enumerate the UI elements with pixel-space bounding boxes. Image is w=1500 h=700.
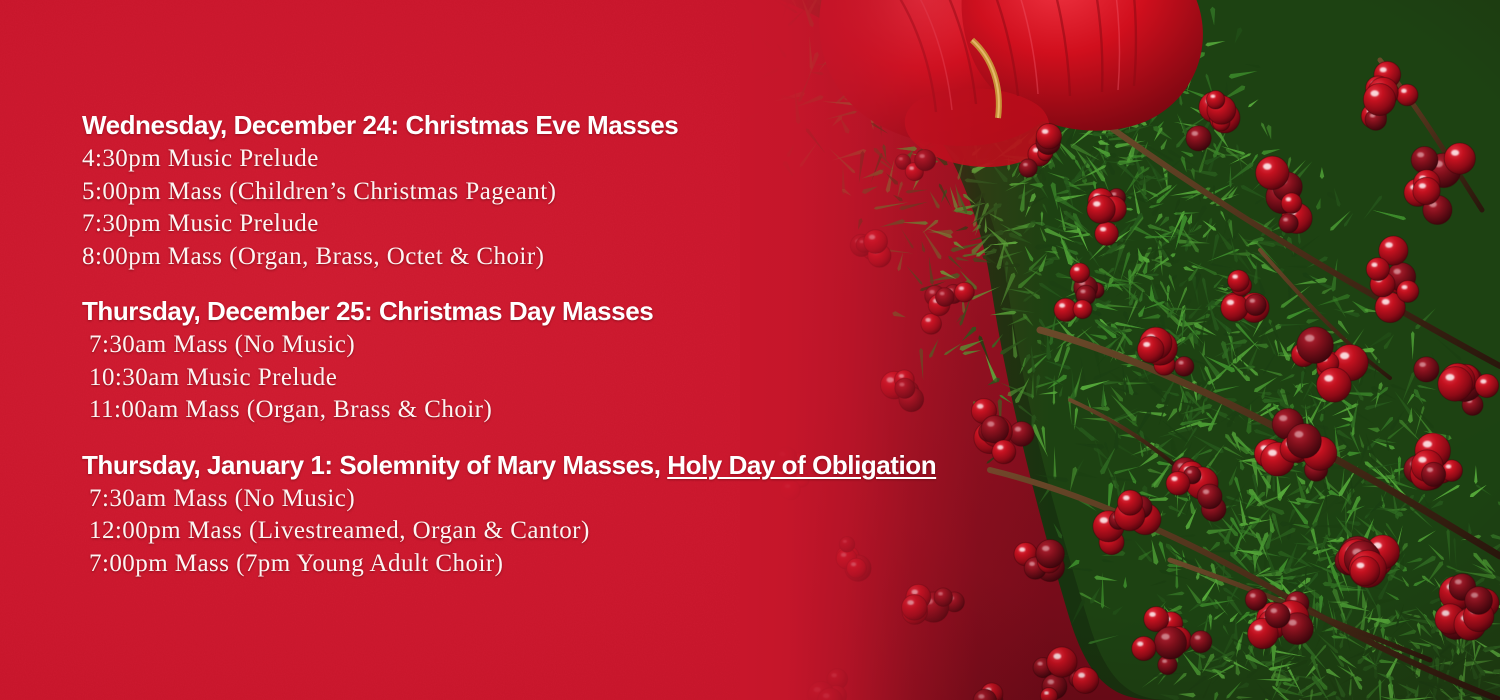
schedule-line: 4:30pm Music Prelude [82,143,1102,176]
schedule-line: 12:00pm Mass (Livestreamed, Organ & Cant… [89,515,1102,548]
heading-plain-text: Thursday, December 25: Christmas Day Mas… [82,296,653,326]
schedule-lines: 7:30am Mass (No Music) 10:30am Music Pre… [82,329,1102,427]
christmas-mass-schedule-poster: Wednesday, December 24: Christmas Eve Ma… [0,0,1500,700]
schedule-lines: 7:30am Mass (No Music) 12:00pm Mass (Liv… [82,483,1102,581]
schedule-line: 7:30pm Music Prelude [82,208,1102,241]
schedule-block: Thursday, January 1: Solemnity of Mary M… [82,448,1102,581]
schedule-content: Wednesday, December 24: Christmas Eve Ma… [82,108,1102,580]
schedule-heading: Thursday, December 25: Christmas Day Mas… [82,294,1102,328]
heading-plain-text: Thursday, January 1: Solemnity of Mary M… [82,450,667,480]
holy-day-of-obligation-underlined-text: Holy Day of Obligation [667,450,936,480]
schedule-lines: 4:30pm Music Prelude 5:00pm Mass (Childr… [82,143,1102,273]
heading-plain-text: Wednesday, December 24: Christmas Eve Ma… [82,110,678,140]
schedule-line: 10:30am Music Prelude [89,362,1102,395]
schedule-line: 8:00pm Mass (Organ, Brass, Octet & Choir… [82,241,1102,274]
schedule-heading: Wednesday, December 24: Christmas Eve Ma… [82,108,1102,142]
schedule-block: Thursday, December 25: Christmas Day Mas… [82,294,1102,427]
schedule-block: Wednesday, December 24: Christmas Eve Ma… [82,108,1102,273]
schedule-line: 7:30am Mass (No Music) [89,329,1102,362]
schedule-line: 7:30am Mass (No Music) [89,483,1102,516]
schedule-line: 7:00pm Mass (7pm Young Adult Choir) [89,548,1102,581]
schedule-heading: Thursday, January 1: Solemnity of Mary M… [82,448,1102,482]
schedule-line: 11:00am Mass (Organ, Brass & Choir) [89,394,1102,427]
schedule-line: 5:00pm Mass (Children’s Christmas Pagean… [82,176,1102,209]
